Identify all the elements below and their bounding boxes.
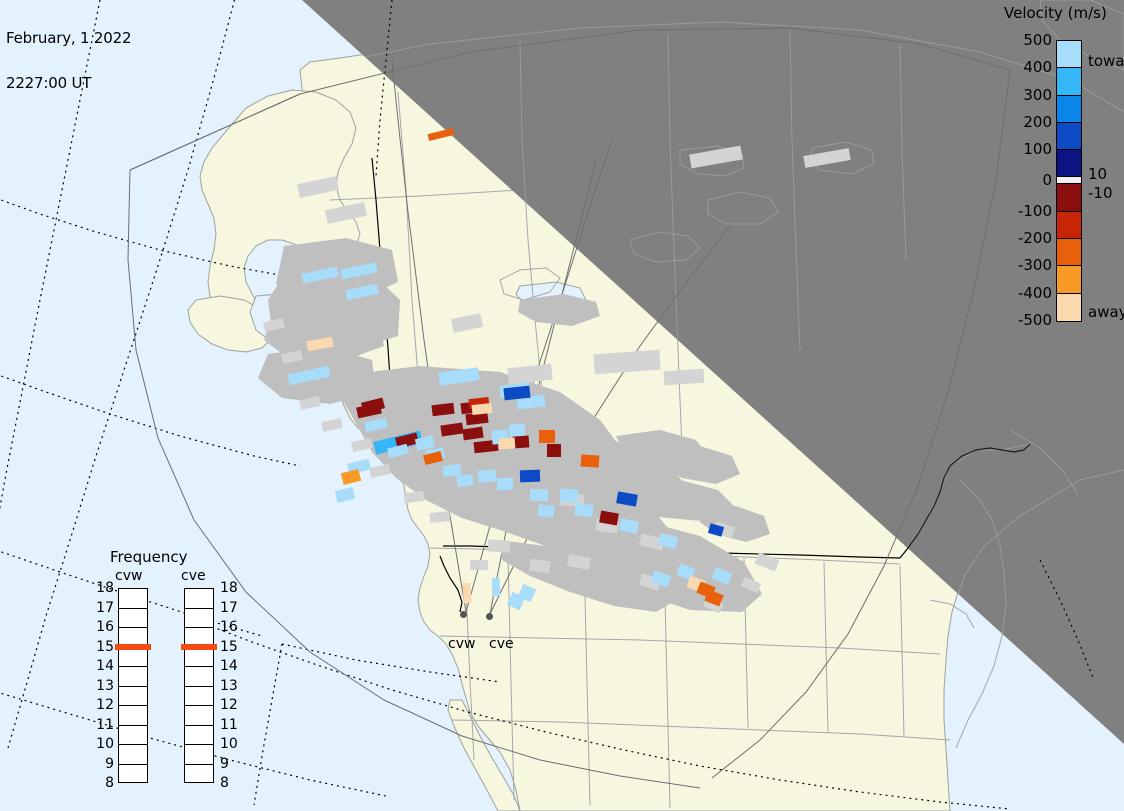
frequency-tick-label: 9 — [220, 756, 252, 772]
frequency-tick-label: 18 — [82, 580, 114, 596]
frequency-cell — [185, 609, 213, 629]
frequency-tick-label: 14 — [220, 658, 252, 674]
colorbar-tick-label: 500 — [1023, 31, 1052, 49]
frequency-tick-label: 9 — [82, 756, 114, 772]
colorbar-tick-label: 400 — [1023, 58, 1052, 76]
frequency-marker-cvw — [115, 644, 151, 650]
colorbar-tick-label: -400 — [1018, 284, 1052, 302]
station-label-cvw: cvw — [448, 636, 475, 652]
backscatter-gate — [664, 369, 705, 386]
station-marker-cvw[interactable] — [460, 611, 467, 618]
frequency-cell — [119, 648, 147, 668]
frequency-cell — [119, 589, 147, 609]
frequency-cell — [119, 726, 147, 746]
colorbar-band — [1057, 68, 1081, 95]
colorbar-away-label: away — [1088, 303, 1124, 321]
colorbar-band — [1057, 150, 1081, 177]
frequency-column-header-cve: cve — [181, 568, 206, 584]
frequency-tick-label: 16 — [220, 619, 252, 635]
colorbar-tick-label: 200 — [1023, 113, 1052, 131]
frequency-cell — [185, 745, 213, 765]
station-label-cve: cve — [489, 636, 514, 652]
frequency-tick-label: 13 — [82, 678, 114, 694]
colorbar-band — [1057, 239, 1081, 266]
frequency-cell — [185, 648, 213, 668]
frequency-tick-label: 11 — [220, 717, 252, 733]
station-marker-cve[interactable] — [486, 613, 493, 620]
frequency-tick-label: 10 — [220, 736, 252, 752]
backscatter-gate — [488, 539, 511, 553]
colorbar-toward-label: toward — [1088, 52, 1124, 70]
frequency-column-cve[interactable] — [184, 588, 214, 783]
colorbar-band — [1057, 41, 1081, 68]
frequency-cell — [185, 687, 213, 707]
velocity-gate — [539, 430, 555, 443]
frequency-tick-label: 17 — [220, 600, 252, 616]
velocity-gate — [456, 474, 473, 487]
colorbar-band — [1057, 184, 1081, 211]
velocity-gate — [478, 469, 497, 483]
frequency-cell — [119, 745, 147, 765]
velocity-gate — [574, 503, 593, 517]
frequency-legend-title: Frequency — [110, 548, 188, 566]
velocity-gate — [581, 454, 600, 467]
velocity-colorbar: Velocity (m/s) 5004003002001000-100-200-… — [1000, 2, 1124, 332]
colorbar-tick-label: 0 — [1042, 171, 1052, 189]
frequency-tick-label: 18 — [220, 580, 252, 596]
frequency-legend: Frequency cvwcve181817171616151514141313… — [96, 548, 236, 788]
colorbar-negative-threshold-label: -10 — [1088, 184, 1113, 202]
colorbar-band — [1057, 294, 1081, 321]
frequency-tick-label: 12 — [82, 697, 114, 713]
colorbar-tick-label: -500 — [1018, 311, 1052, 329]
colorbar-tick-label: -100 — [1018, 202, 1052, 220]
frequency-cell — [185, 667, 213, 687]
frequency-cell — [119, 765, 147, 785]
frequency-tick-label: 10 — [82, 736, 114, 752]
frequency-cell — [185, 706, 213, 726]
frequency-tick-label: 8 — [82, 775, 114, 791]
superdarn-velocity-map: February, 1 2022 2227:00 UT cvwcve Veloc… — [0, 0, 1124, 811]
velocity-gate — [492, 578, 501, 596]
backscatter-gate — [470, 560, 488, 571]
frequency-cell — [119, 706, 147, 726]
colorbar-gradient — [1056, 40, 1082, 322]
frequency-tick-label: 12 — [220, 697, 252, 713]
frequency-column-header-cvw: cvw — [115, 568, 142, 584]
frequency-tick-label: 16 — [82, 619, 114, 635]
velocity-gate — [560, 488, 579, 502]
frequency-cell — [119, 687, 147, 707]
colorbar-band — [1057, 96, 1081, 123]
colorbar-band — [1057, 177, 1081, 184]
colorbar-tick-label: 100 — [1023, 140, 1052, 158]
frequency-cell — [185, 589, 213, 609]
frequency-tick-label: 13 — [220, 678, 252, 694]
colorbar-positive-threshold-label: 10 — [1088, 165, 1107, 183]
backscatter-gate — [430, 511, 451, 523]
velocity-gate — [530, 489, 548, 502]
colorbar-band — [1057, 266, 1081, 293]
colorbar-tick-label: 300 — [1023, 86, 1052, 104]
colorbar-title: Velocity (m/s) — [1004, 4, 1107, 22]
frequency-cell — [185, 726, 213, 746]
frequency-cell — [119, 609, 147, 629]
frequency-tick-label: 14 — [82, 658, 114, 674]
colorbar-tick-label: -300 — [1018, 256, 1052, 274]
colorbar-band — [1057, 123, 1081, 150]
velocity-gate — [472, 403, 493, 415]
frequency-tick-label: 15 — [220, 639, 252, 655]
velocity-gate — [547, 444, 561, 457]
velocity-gate — [537, 504, 554, 518]
frequency-tick-label: 15 — [82, 639, 114, 655]
velocity-gate — [497, 478, 514, 491]
velocity-gate — [499, 437, 516, 449]
title-date: February, 1 2022 — [6, 31, 131, 46]
colorbar-tick-label: -200 — [1018, 229, 1052, 247]
colorbar-band — [1057, 212, 1081, 239]
timestamp-title: February, 1 2022 2227:00 UT — [6, 1, 131, 121]
frequency-cell — [185, 765, 213, 785]
frequency-column-cvw[interactable] — [118, 588, 148, 783]
frequency-tick-label: 8 — [220, 775, 252, 791]
frequency-tick-label: 11 — [82, 717, 114, 733]
frequency-cell — [119, 667, 147, 687]
frequency-marker-cve — [181, 644, 217, 650]
title-time: 2227:00 UT — [6, 76, 131, 91]
velocity-gate — [509, 423, 526, 437]
frequency-tick-label: 17 — [82, 600, 114, 616]
velocity-gate — [462, 583, 471, 604]
velocity-gate — [520, 470, 540, 483]
